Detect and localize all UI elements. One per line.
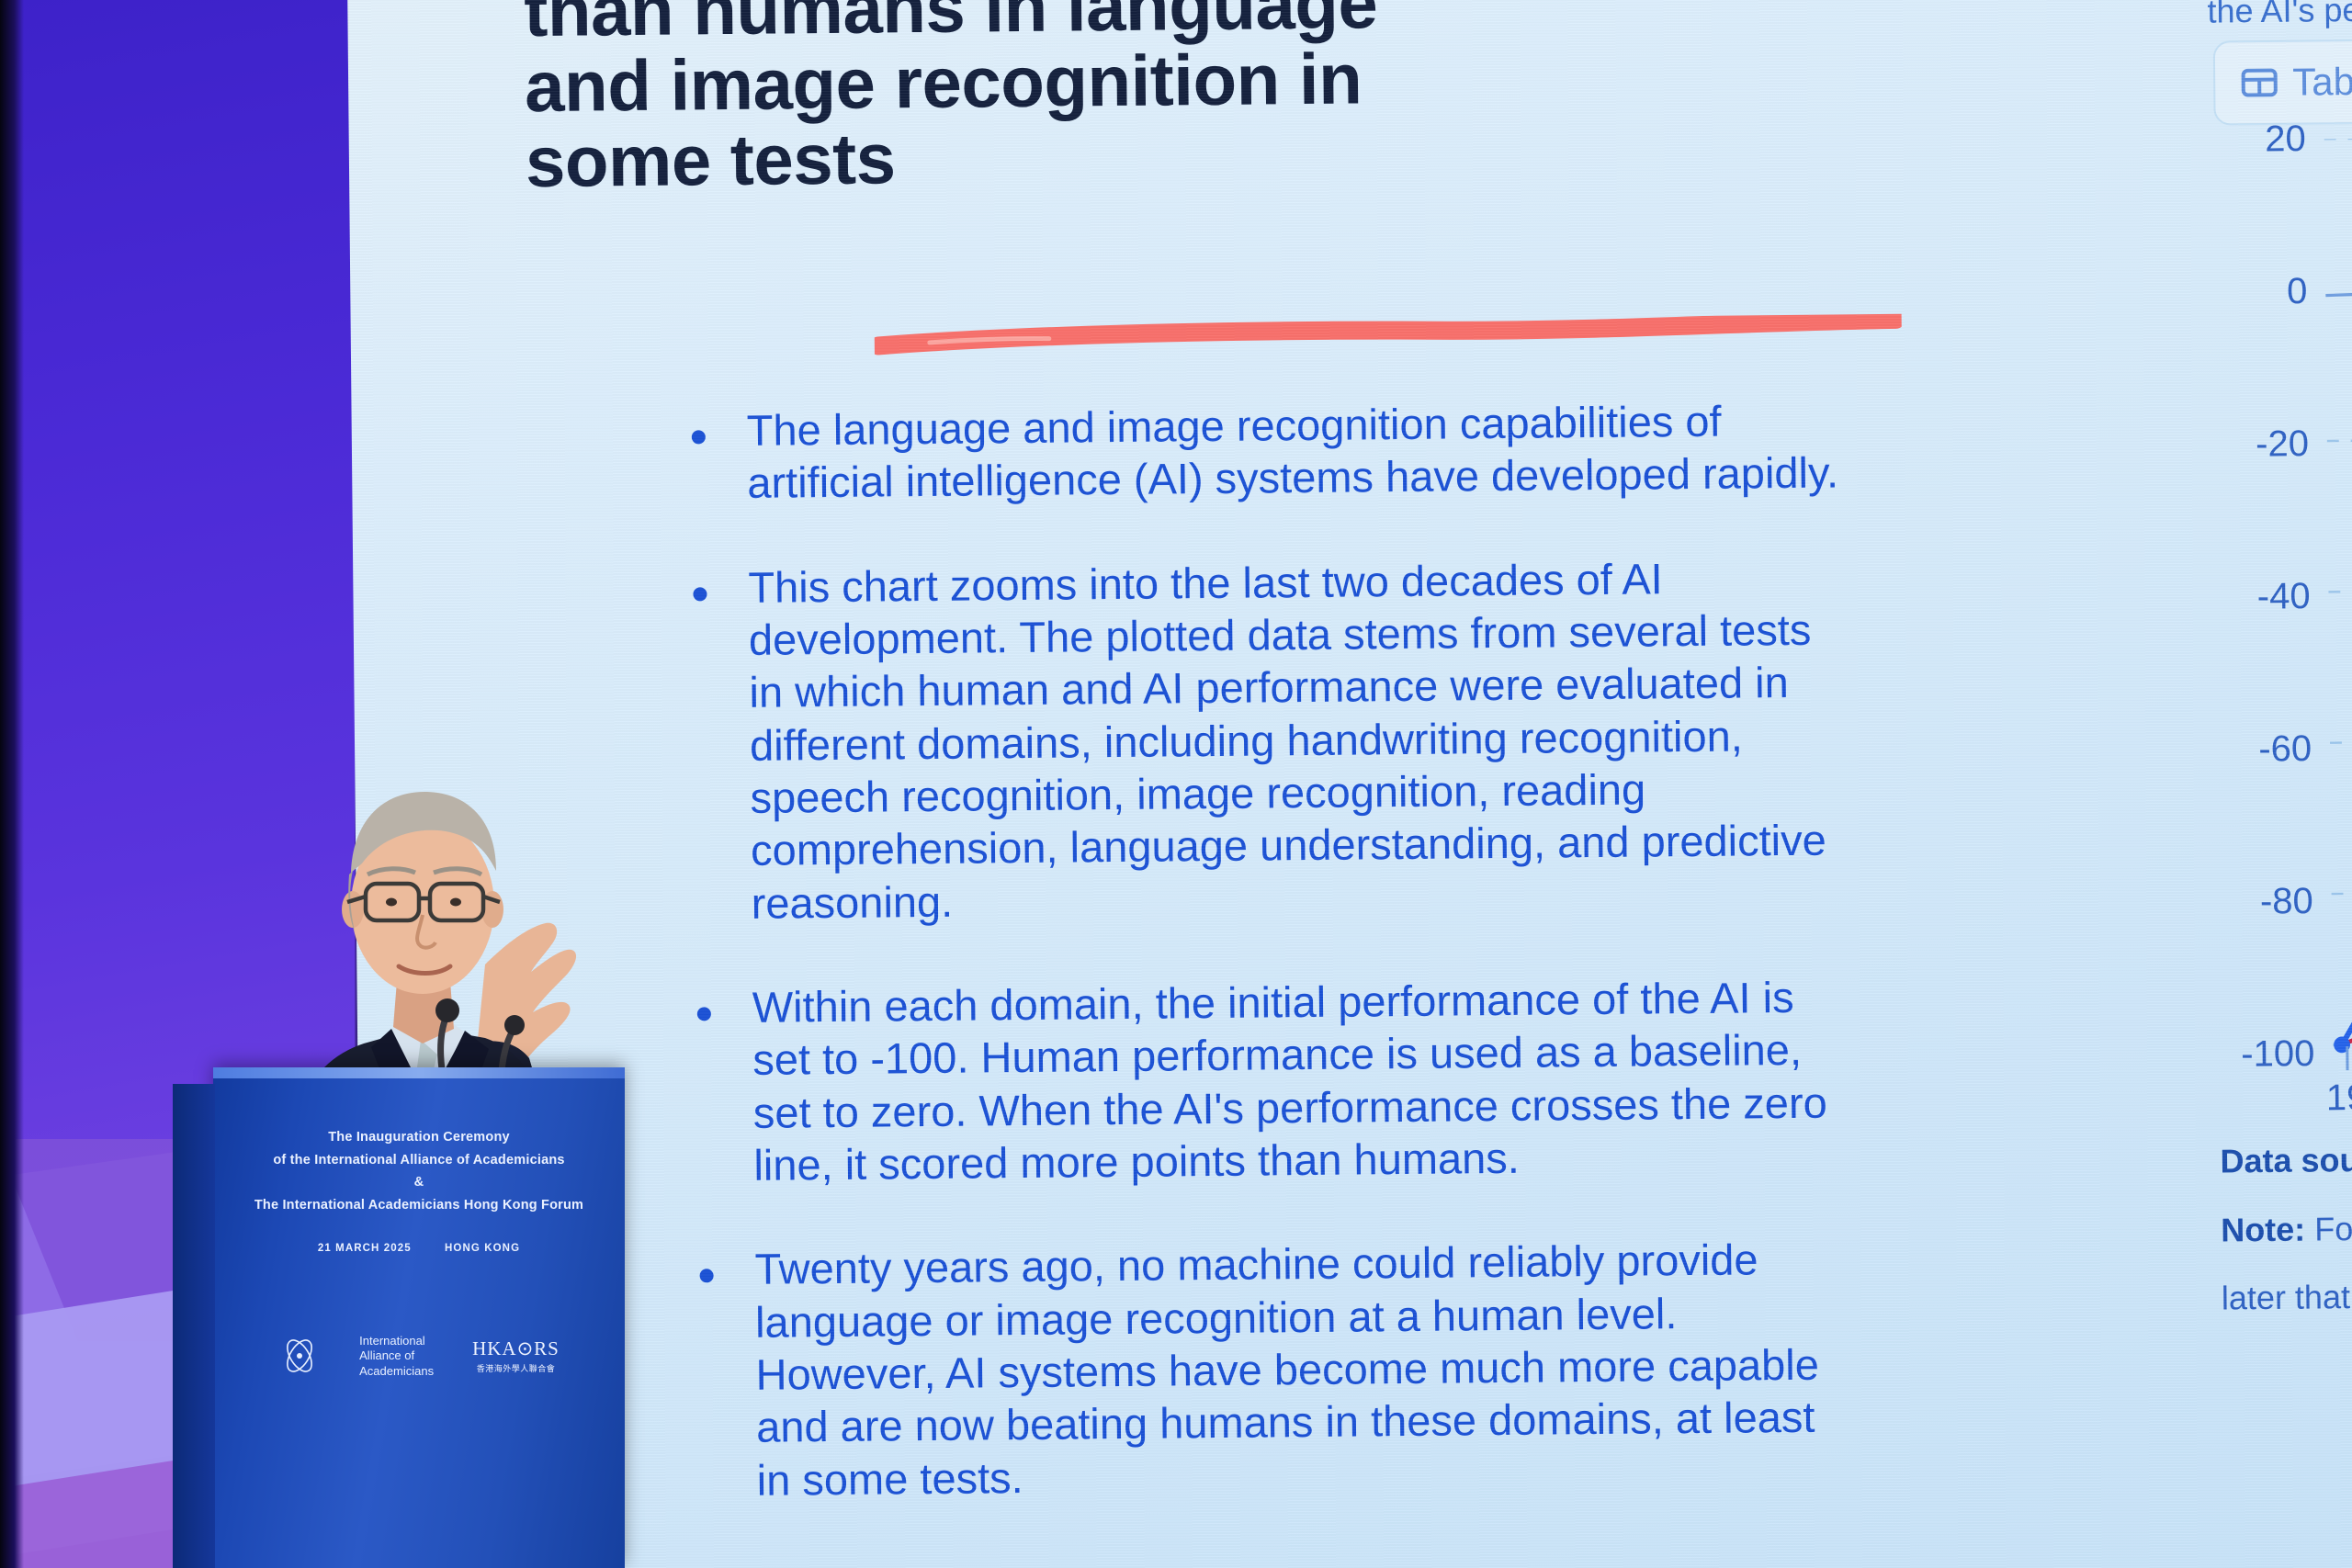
podium-line-4: The International Academicians Hong Kong… [213,1194,625,1217]
x-tick-mark [2346,1046,2348,1070]
podium-date: 21 MARCH 2025 [318,1243,412,1254]
data-source-label: Data source: [2220,1140,2352,1179]
hkaors-logo-main: HKA⊙RS [472,1337,560,1360]
lead-line: the AI's performance crosses the [2207,0,2352,32]
hkaors-logo-sub: 香港海外學人聯合會 [472,1362,560,1374]
podium-line-3: & [213,1171,625,1194]
view-toggle[interactable]: Table Chart [2213,37,2352,126]
podium-location: HONG KONG [445,1243,520,1254]
chart-footnotes: Data source: Kiela et al. (2023 Note: Fo… [2220,1134,2352,1321]
bullet-dot-icon [693,587,707,601]
y-tick: 20 [2265,118,2306,160]
tab-table-label: Table [2292,60,2352,105]
slide-bullet-list: The language and image recognition capab… [746,391,2117,1558]
series-blue-markers [2328,466,2352,1053]
y-tick: -40 [2257,576,2311,618]
headline-line-3: some tests [526,116,1519,200]
table-icon [2241,67,2278,98]
series-red-line [2340,874,2352,1045]
y-tick: -20 [2256,423,2309,466]
data-source-row: Data source: Kiela et al. (2023 [2220,1134,2352,1184]
bullet-dot-icon [692,430,706,444]
podium-line-1: The Inauguration Ceremony [213,1126,625,1149]
note-row: Note: For each capability, the fir [2221,1202,2352,1253]
podium-signage: The Inauguration Ceremony of the Interna… [213,1126,625,1254]
red-marker-underline [875,314,1902,355]
slide-headline: than humans in language and image recogn… [524,0,1518,200]
microphone-head [435,998,459,1022]
chart-panel: Within each domain, the initial performa… [2194,0,2352,1535]
microphone-head [504,1015,525,1035]
series-blue-line [2336,468,2352,1044]
bullet-baseline: Within each domain, the initial performa… [752,968,2114,1192]
bullet-capabilities: The language and image recognition capab… [746,391,2107,510]
x-tick-label: 1998 [2326,1077,2352,1120]
led-wall-dark-edge [0,0,24,1568]
podium-left-face [173,1084,215,1568]
bullet-dot-icon [697,1007,711,1021]
iaa-logo-text: InternationalAlliance ofAcademicians [359,1334,434,1379]
x-axis: 1998 [2325,1046,2352,1120]
y-tick: -60 [2258,728,2312,771]
y-tick: -80 [2260,881,2313,923]
human-baseline-line [2325,280,2352,295]
iaa-logo-icon [278,1335,321,1377]
projected-slide: than humans in language and image recogn… [347,0,2352,1568]
note-label: Note: [2221,1210,2305,1248]
bullet-chart-scope: This chart zooms into the last two decad… [748,547,2111,929]
podium-line-2: of the International Alliance of Academi… [213,1149,625,1172]
note-continuation: later that year. [2222,1270,2352,1321]
podium-logos: InternationalAlliance ofAcademicians HKA… [213,1334,625,1379]
presentation-photo: than humans in language and image recogn… [0,0,2352,1568]
y-tick: 0 [2287,271,2308,312]
chart-panel-lead-text: Within each domain, the initial performa… [2207,0,2352,32]
hkaors-logo: HKA⊙RS 香港海外學人聯合會 [472,1337,560,1374]
headline-line-2: and image recognition in [525,40,1518,125]
bullet-dot-icon [700,1269,714,1283]
y-axis-labels: 20 0 -20 -40 -60 -80 -100 [2196,140,2315,1059]
tab-table[interactable]: Table [2221,47,2352,118]
note-value: For each capability, the fir [2314,1206,2352,1247]
podium-meta: 21 MARCH 2025 HONG KONG [213,1243,625,1254]
y-tick: -100 [2241,1033,2314,1076]
chart-gridlines-and-series [2317,135,2352,1058]
bullet-progress: Twenty years ago, no machine could relia… [754,1230,2117,1506]
podium: The Inauguration Ceremony of the Interna… [213,1067,625,1568]
line-chart-plot: 20 0 -20 -40 -60 -80 -100 [2196,135,2352,1059]
podium-top-edge [213,1067,625,1078]
